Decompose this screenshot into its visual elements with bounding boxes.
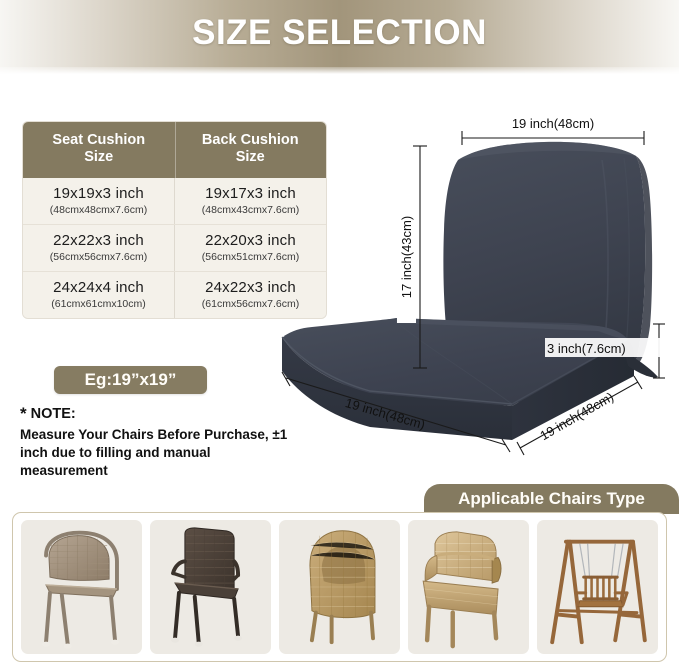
- seat-size-inch: 19x19x3 inch: [25, 185, 172, 202]
- dim-back-width: 19 inch(48cm): [512, 116, 594, 131]
- seat-size-cm: (48cmx48cmx7.6cm): [25, 204, 172, 216]
- seat-size-cell: 24x24x4 inch (61cmx61cmx10cm): [23, 272, 174, 318]
- dim-thickness: 3 inch(7.6cm): [547, 341, 626, 356]
- note-body: Measure Your Chairs Before Purchase, ±1 …: [20, 426, 300, 481]
- note-block: * NOTE: Measure Your Chairs Before Purch…: [20, 404, 300, 481]
- chair-thumbnail-round-back-wicker-stacking-chair[interactable]: [21, 520, 142, 654]
- seat-cushion-graphic: [282, 318, 658, 440]
- size-selection-infographic: SIZE SELECTION Seat Cushion Size Back Cu…: [0, 0, 679, 672]
- column-header-seat-cushion-size: Seat Cushion Size: [23, 122, 175, 178]
- example-size-badge: Eg:19”x19”: [54, 366, 207, 394]
- applicable-chairs-tab: Applicable Chairs Type: [424, 484, 679, 514]
- note-heading: * NOTE:: [20, 404, 300, 424]
- seat-size-cell: 22x22x3 inch (56cmx56cmx7.6cm): [23, 225, 174, 271]
- seat-size-inch: 22x22x3 inch: [25, 232, 172, 249]
- example-size-label: Eg:19”x19”: [85, 370, 177, 390]
- seat-size-inch: 24x24x4 inch: [25, 279, 172, 296]
- seat-size-cm: (56cmx56cmx7.6cm): [25, 251, 172, 263]
- chair-thumbnail-tan-wicker-tub-chair[interactable]: [279, 520, 400, 654]
- banner: SIZE SELECTION: [0, 0, 679, 74]
- chair-thumbnail-dark-wicker-high-back-armchair[interactable]: [150, 520, 271, 654]
- applicable-chairs-gallery: [12, 512, 667, 662]
- dim-back-height: 17 inch(43cm): [399, 216, 414, 298]
- chair-thumbnail-wooden-porch-swing[interactable]: [537, 520, 658, 654]
- seat-size-cell: 19x19x3 inch (48cmx48cmx7.6cm): [23, 178, 174, 224]
- page-title: SIZE SELECTION: [0, 13, 679, 53]
- seat-size-cm: (61cmx61cmx10cm): [25, 298, 172, 310]
- chair-thumbnail-natural-wicker-armchair[interactable]: [408, 520, 529, 654]
- cushion-illustration: 19 inch(48cm) 17 inch(43cm) 3 inch(7.6cm…: [272, 100, 679, 480]
- applicable-chairs-label: Applicable Chairs Type: [458, 489, 645, 509]
- note-heading-label: NOTE:: [31, 406, 76, 422]
- asterisk-icon: *: [20, 404, 27, 423]
